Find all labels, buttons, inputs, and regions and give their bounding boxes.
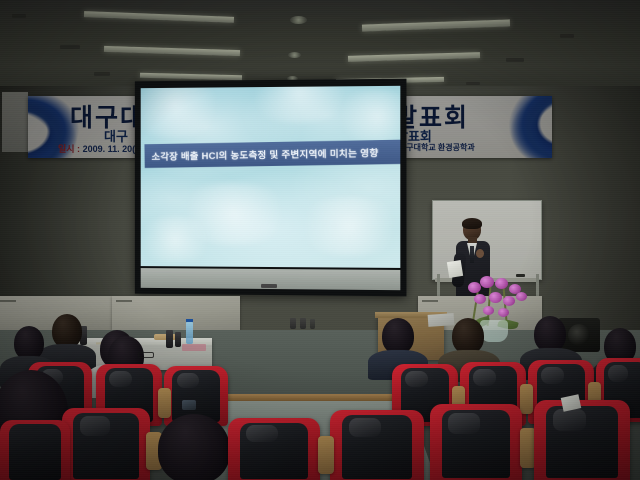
seat-highlight bbox=[177, 373, 199, 389]
seat-armrest bbox=[318, 436, 334, 474]
auditorium-seat[interactable] bbox=[534, 400, 630, 480]
ceiling-vent bbox=[466, 82, 480, 85]
eyeglasses bbox=[138, 352, 154, 358]
auditorium-seat[interactable] bbox=[430, 404, 522, 480]
auditorium-seat[interactable] bbox=[228, 418, 320, 480]
podium-papers bbox=[428, 313, 455, 327]
event-banner-right: 발표회 발표회 : 대구대학교 환경공학과 bbox=[392, 96, 552, 158]
orchid-bloom bbox=[489, 292, 502, 303]
seat-highlight bbox=[109, 371, 131, 387]
beverage-bottle bbox=[310, 319, 315, 329]
orchid-bloom bbox=[468, 282, 481, 293]
seat-highlight bbox=[608, 365, 628, 382]
auditorium-seat[interactable] bbox=[0, 420, 70, 480]
ceiling-vent bbox=[60, 45, 80, 49]
audience-head bbox=[52, 314, 82, 348]
audience-head bbox=[534, 316, 566, 352]
bottle-cap bbox=[186, 319, 193, 322]
orchid-bloom bbox=[498, 308, 509, 317]
cloud-shape bbox=[289, 197, 400, 256]
projection-screen: 소각장 배출 HCl의 농도측정 및 주변지역에 미치는 영향 bbox=[135, 79, 407, 297]
beverage-bottle bbox=[290, 318, 296, 329]
orchid-bloom bbox=[495, 278, 508, 289]
cloud-shape bbox=[141, 217, 220, 263]
ceiling-light-fixture bbox=[84, 11, 234, 23]
ceiling-vent bbox=[506, 58, 524, 62]
ceiling-vent bbox=[12, 14, 26, 18]
ceiling-light-fixture bbox=[348, 52, 480, 62]
seat-highlight bbox=[473, 369, 495, 386]
radiator-vent-line bbox=[116, 300, 132, 302]
orchid-bloom bbox=[483, 306, 494, 315]
projection-screen-surface: 소각장 배출 HCl의 농도측정 및 주변지역에 미치는 영향 bbox=[141, 86, 401, 268]
seat-highlight bbox=[405, 371, 427, 387]
ceiling-light-fixture bbox=[104, 46, 240, 56]
presenter-hair bbox=[462, 218, 482, 229]
wall-radiator-panel bbox=[112, 296, 240, 330]
ceiling-light-fixture bbox=[140, 73, 242, 80]
banner-date-label: 일시 : bbox=[58, 144, 80, 154]
presenter-hand bbox=[476, 249, 484, 258]
audience-head bbox=[452, 318, 484, 354]
radiator-vent-line bbox=[0, 300, 16, 302]
presenter-tie bbox=[470, 246, 474, 263]
ceiling-vent bbox=[94, 72, 110, 76]
photo-scene: 대구대 대구 일시 : 2009. 11. 20(금) 발표회 발표회 : 대구… bbox=[0, 0, 640, 480]
audience-head-foreground bbox=[158, 414, 230, 480]
ceiling-light-fixture bbox=[362, 19, 510, 31]
banner-org-value: 대구대학교 환경공학과 bbox=[399, 143, 475, 152]
audience-head bbox=[382, 318, 414, 354]
orchid-bloom bbox=[503, 296, 515, 306]
seat-highlight bbox=[246, 425, 277, 442]
ceiling bbox=[0, 0, 640, 88]
radiator-vent-line bbox=[422, 300, 438, 302]
slide-title-text: 소각장 배출 HCl의 농도측정 및 주변지역에 미치는 영향 bbox=[145, 145, 379, 163]
ceiling-vent bbox=[560, 34, 574, 38]
beverage-bottle bbox=[175, 332, 181, 347]
table-mat bbox=[182, 344, 206, 351]
audience-head bbox=[14, 326, 44, 360]
seat-highlight bbox=[553, 409, 586, 431]
wall-poster bbox=[2, 92, 28, 152]
water-bottle bbox=[186, 322, 193, 344]
presenter-neck bbox=[468, 237, 477, 243]
glass-vase bbox=[480, 320, 508, 342]
orchid-bloom bbox=[480, 276, 494, 288]
slide-title-bar: 소각장 배출 HCl의 농도측정 및 주변지역에 미치는 영향 bbox=[144, 140, 400, 168]
seat-back bbox=[9, 424, 61, 479]
seat-highlight bbox=[80, 416, 110, 436]
orchid-bloom bbox=[474, 294, 486, 304]
screen-center-notch bbox=[261, 284, 277, 288]
seat-highlight bbox=[448, 413, 479, 434]
whiteboard-leg bbox=[437, 274, 440, 298]
auditorium-seat[interactable] bbox=[330, 410, 424, 480]
screen-bottom-valance bbox=[141, 268, 401, 290]
seat-highlight bbox=[541, 367, 563, 384]
beverage-bottle bbox=[166, 330, 173, 348]
cloud-shape bbox=[141, 86, 230, 138]
seat-highlight bbox=[349, 418, 381, 437]
handheld-device bbox=[182, 400, 196, 410]
beverage-bottle bbox=[300, 318, 306, 329]
auditorium-seat[interactable] bbox=[62, 408, 150, 480]
seat-armrest bbox=[158, 388, 171, 418]
banner-left-date: 일시 : 2009. 11. 20(금) bbox=[58, 142, 146, 155]
speaker-cone bbox=[568, 324, 590, 346]
ceiling-downlight bbox=[290, 16, 307, 24]
orchid-bloom bbox=[516, 292, 527, 301]
banner-swoosh-graphic bbox=[497, 96, 552, 158]
ceiling-downlight bbox=[288, 52, 301, 58]
